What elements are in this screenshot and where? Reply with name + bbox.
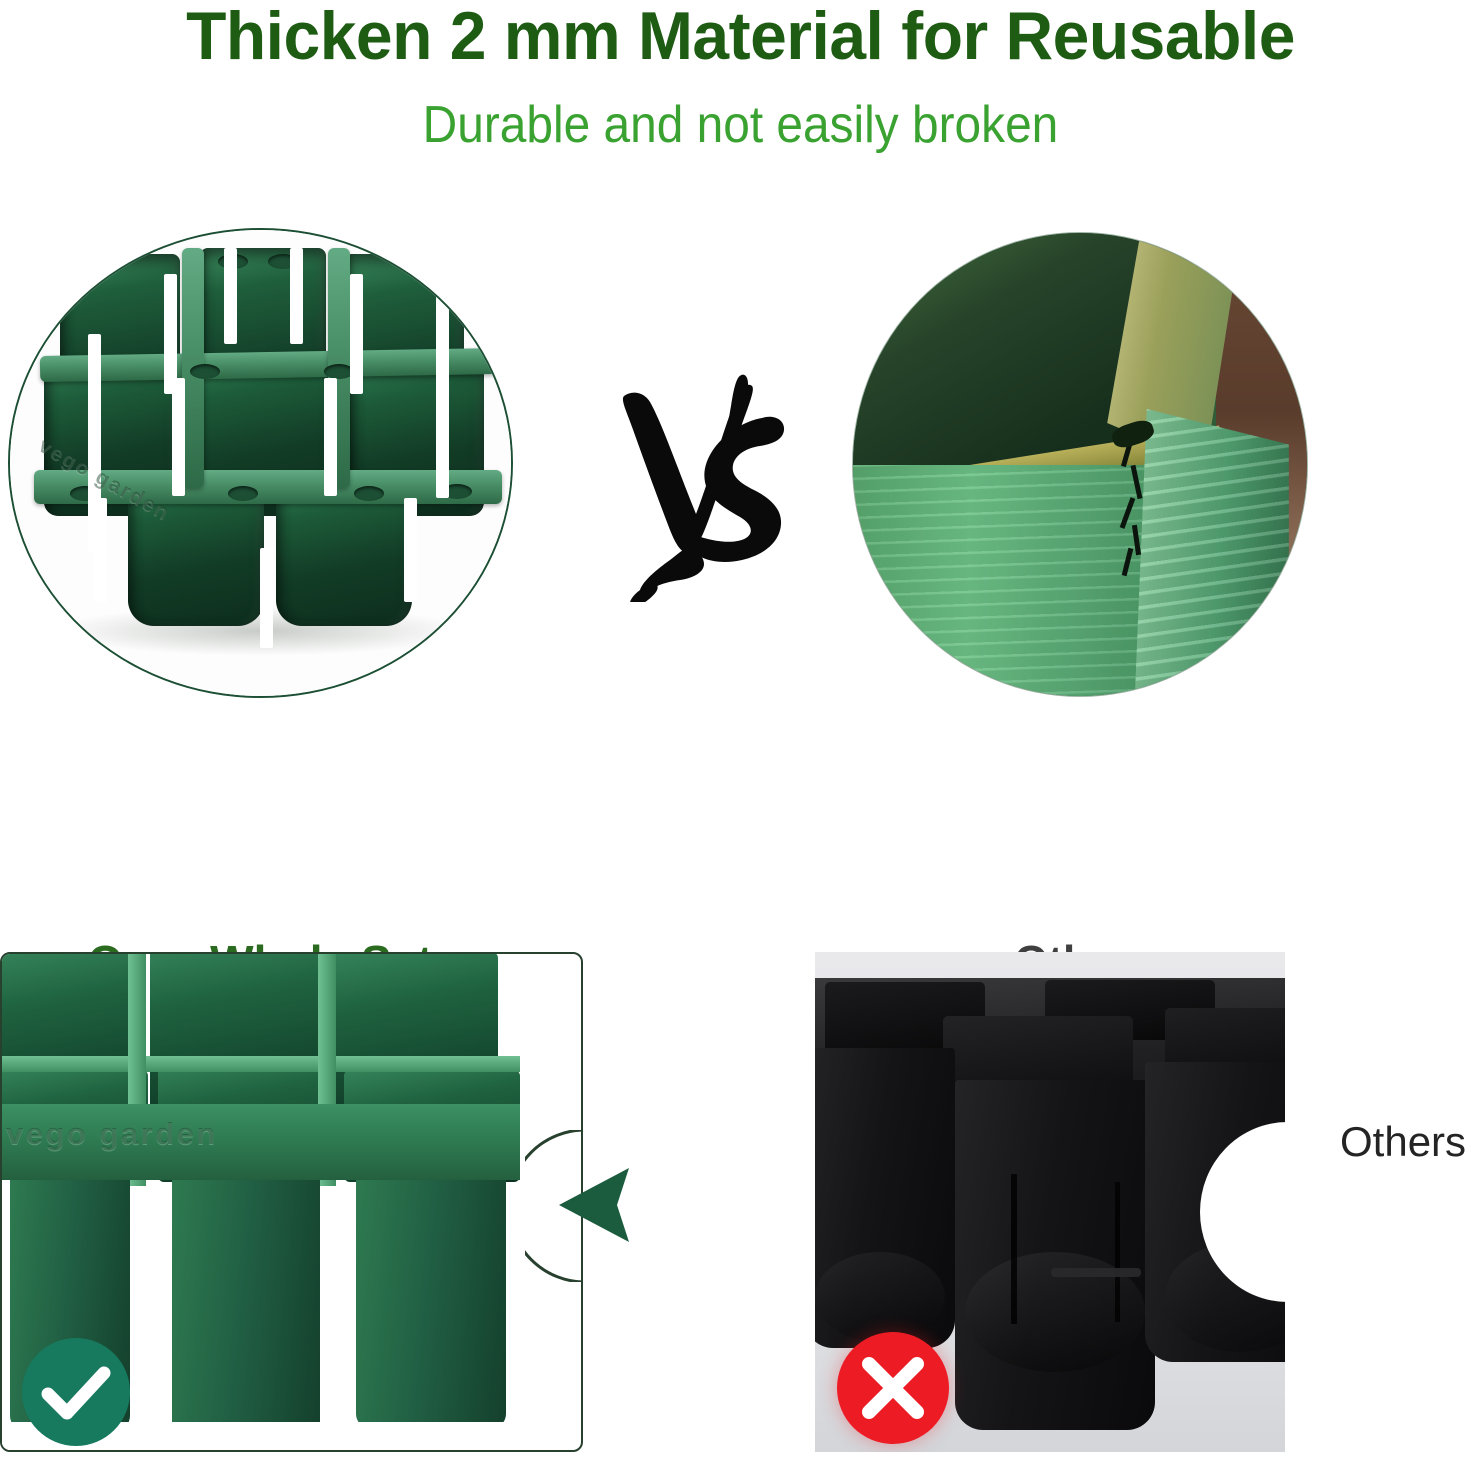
top-comparison-row: vego garden — [0, 200, 1481, 920]
vs-icon — [592, 352, 802, 602]
page-title: Thicken 2 mm Material for Reusable — [22, 2, 1459, 71]
bottom-comparison-row: vego garden — [0, 952, 1481, 1457]
others-detail-card: Others — [815, 952, 1481, 1452]
page-subtitle: Durable and not easily broken — [59, 95, 1422, 155]
arrow-left-icon — [559, 1164, 645, 1246]
green-tray-illustration: vego garden — [10, 230, 511, 696]
headline-block: Thicken 2 mm Material for Reusable Durab… — [0, 0, 1481, 200]
others-product-photo-circle — [852, 232, 1308, 697]
ours-product-photo-circle: vego garden — [8, 228, 513, 698]
others-panel-label: Others — [1340, 1118, 1481, 1166]
tray-brand-emboss-bottom: vego garden — [6, 1116, 218, 1152]
check-badge — [22, 1338, 130, 1446]
x-badge — [837, 1332, 949, 1444]
cracked-pot-illustration — [853, 233, 1307, 696]
